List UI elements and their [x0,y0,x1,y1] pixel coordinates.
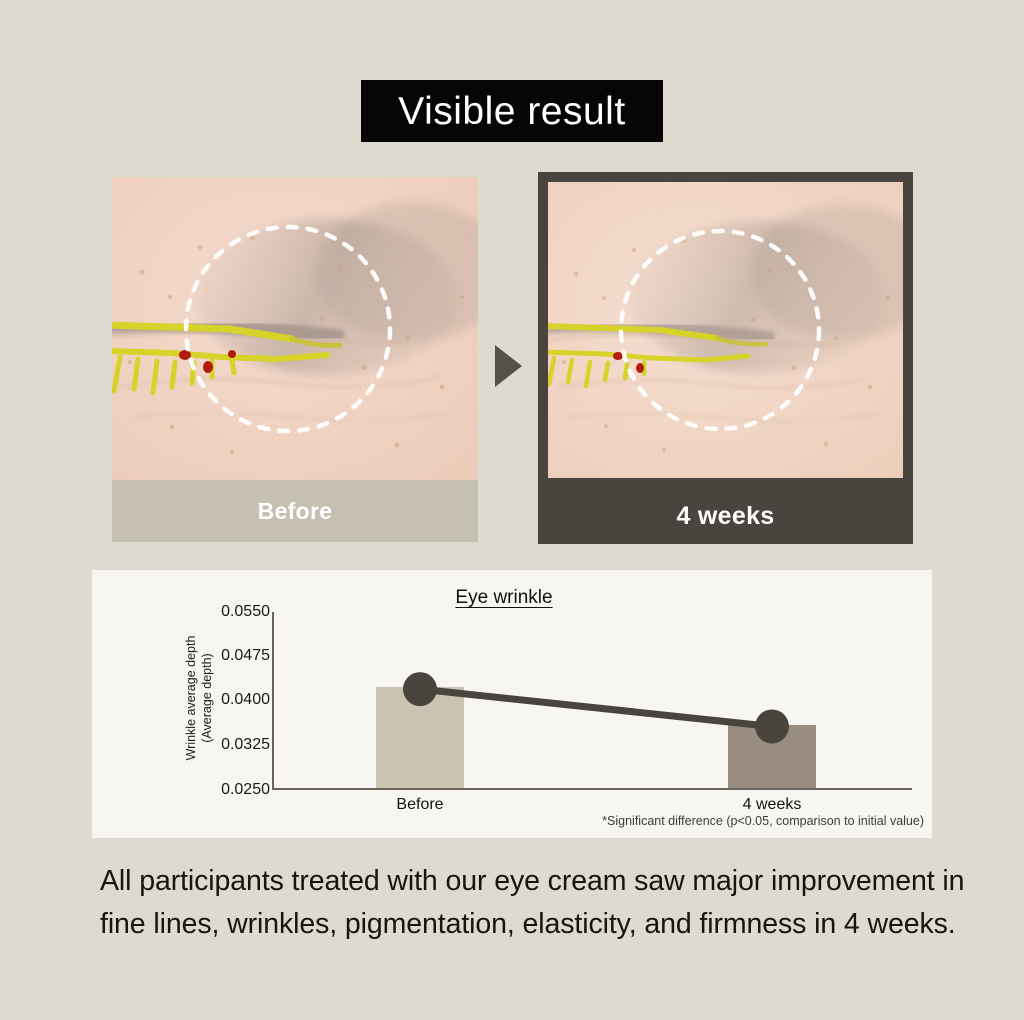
before-caption-bar: Before [112,480,478,542]
chart-marker-4-weeks [755,710,789,744]
before-photo-viewport [112,177,478,480]
after-caption-bar: 4 weeks [538,488,913,544]
after-caption-label: 4 weeks [676,502,774,531]
y-tick-2: 0.0400 [184,691,270,709]
chart-trend-line [272,612,912,790]
y-tick-0: 0.0550 [184,603,270,621]
y-tick-3: 0.0325 [184,736,270,754]
eye-wrinkle-chart-panel: Eye wrinkle Wrinkle average depth (Avera… [92,570,932,838]
summary-paragraph: All participants treated with our eye cr… [100,860,970,947]
chart-plot-area: Before 4 weeks [272,612,912,790]
skin-macro-photo-before [112,177,478,480]
before-photo-card: Before [112,177,478,542]
chart-marker-before [403,672,437,706]
chart-x-label-before: Before [396,796,443,814]
chart-y-tick-labels: 0.0550 0.0475 0.0400 0.0325 0.0250 [184,570,270,838]
chart-footnote: *Significant difference (p<0.05, compari… [602,814,924,828]
play-triangle-right-icon [495,345,522,387]
after-photo-viewport [548,182,903,478]
after-photo-card: 4 weeks [538,172,913,544]
skin-macro-photo-after [548,182,903,478]
chart-x-label-4-weeks: 4 weeks [743,796,802,814]
before-caption-label: Before [258,498,333,525]
y-tick-4: 0.0250 [184,781,270,799]
y-tick-1: 0.0475 [184,647,270,665]
before-after-comparison: Before [0,0,1024,560]
